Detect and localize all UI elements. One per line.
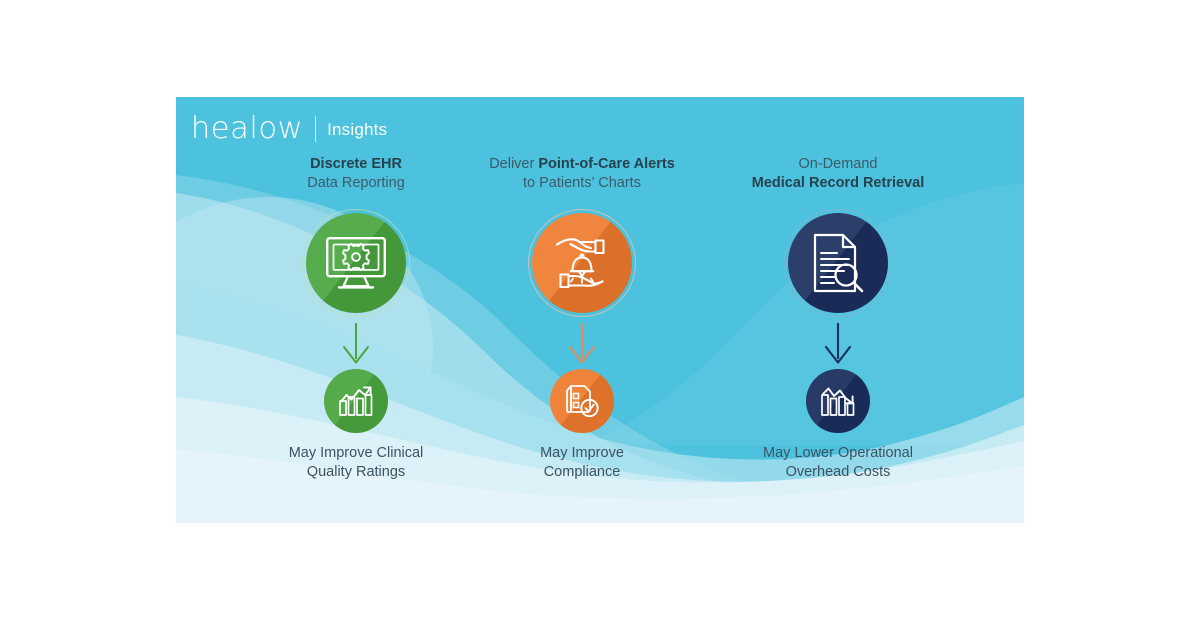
monitor-gear-icon xyxy=(325,236,387,290)
down-arrow-navy-icon xyxy=(821,323,855,365)
heading-light-line1: Deliver xyxy=(489,156,538,172)
heading-light-line2: Data Reporting xyxy=(307,175,405,191)
primary-icon-circle-green xyxy=(306,213,406,313)
outcome-icon-circle-green xyxy=(324,369,388,433)
heading-light-line2: to Patients’ Charts xyxy=(523,175,641,191)
primary-icon-circle-wrap xyxy=(302,209,410,317)
healow-insights-infographic-card: healow Insights Discrete EHR Data Report… xyxy=(176,97,1024,523)
primary-icon-circle-wrap xyxy=(528,209,636,317)
outcome-icon-circle-navy xyxy=(806,369,870,433)
document-check-icon xyxy=(563,382,601,420)
primary-icon-circle-orange xyxy=(532,213,632,313)
outcome-icon-circle-orange xyxy=(550,369,614,433)
heading-light-line1: On-Demand xyxy=(799,156,878,172)
caption-line-1: May Lower Operational xyxy=(763,444,913,463)
column-caption: May Improve Clinical Quality Ratings xyxy=(289,444,424,482)
heading-bold-line1: Discrete EHR xyxy=(310,156,402,172)
bar-chart-down-arrow-icon xyxy=(819,384,857,418)
column-heading: On-Demand Medical Record Retrieval xyxy=(752,155,924,195)
caption-line-2: Overhead Costs xyxy=(763,463,913,482)
heading-bold-line1: Point-of-Care Alerts xyxy=(538,156,674,172)
column-caption: May Lower Operational Overhead Costs xyxy=(763,444,913,482)
column-point-of-care-alerts: Deliver Point-of-Care Alerts to Patients… xyxy=(447,155,717,482)
benefit-columns: Discrete EHR Data Reporting xyxy=(176,97,1024,523)
down-arrow-green-icon xyxy=(339,323,373,365)
down-arrow-orange-icon xyxy=(565,323,599,365)
column-heading: Deliver Point-of-Care Alerts to Patients… xyxy=(489,155,675,195)
primary-icon-circle-wrap xyxy=(784,209,892,317)
column-caption: May Improve Compliance xyxy=(540,444,624,482)
caption-line-1: May Improve Clinical xyxy=(289,444,424,463)
caption-line-1: May Improve xyxy=(540,444,624,463)
caption-line-2: Quality Ratings xyxy=(289,463,424,482)
column-medical-record-retrieval: On-Demand Medical Record Retrieval xyxy=(703,155,973,482)
bar-chart-up-arrow-icon xyxy=(337,384,375,418)
hands-bell-alert-icon xyxy=(549,230,615,296)
caption-line-2: Compliance xyxy=(540,463,624,482)
document-magnifier-icon xyxy=(810,232,866,294)
column-heading: Discrete EHR Data Reporting xyxy=(307,155,405,195)
primary-icon-circle-navy xyxy=(788,213,888,313)
heading-bold-line2: Medical Record Retrieval xyxy=(752,175,924,191)
